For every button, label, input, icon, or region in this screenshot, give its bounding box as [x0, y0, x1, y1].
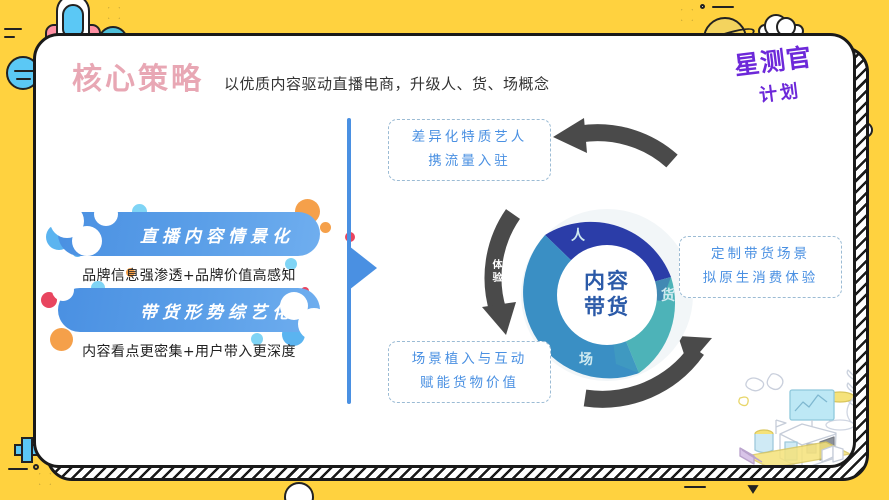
strategy-pill-2[interactable]: 带货形势综艺化	[58, 288, 320, 332]
callout-right[interactable]: 定制带货场景 拟原生消费体验	[679, 236, 842, 298]
donut-center-line-2: 带货	[584, 295, 630, 321]
donut-segment-label-ren: 人	[571, 225, 585, 245]
dot-deco	[700, 4, 705, 9]
dash-deco	[712, 6, 734, 8]
callout-top-line-2: 携流量入驻	[428, 150, 511, 174]
callout-bottom-line-1: 场景植入与互动	[412, 348, 528, 372]
strategy-item-1[interactable]: 直播内容情景化 品牌信息强渗透+品牌价值高感知	[58, 212, 339, 285]
donut-center-line-1: 内容	[584, 269, 630, 295]
header-title: 核心策略	[72, 54, 204, 98]
callout-bottom[interactable]: 场景植入与互动 赋能货物价值	[388, 341, 551, 403]
callout-bottom-line-2: 赋能货物价值	[420, 372, 519, 396]
divider-arrow-icon	[349, 246, 377, 290]
planet-icon	[284, 482, 314, 500]
triangle-deco	[747, 485, 758, 494]
arc-label-left: 体验	[488, 259, 503, 285]
donut-segment-label-chang: 场	[579, 349, 593, 369]
arc-label-top: 定制	[643, 174, 671, 200]
callout-right-line-1: 定制带货场景	[711, 243, 810, 267]
strategy-label-1: 直播内容情景化	[84, 222, 294, 247]
strategy-item-2[interactable]: 带货形势综艺化 内容看点更密集+用户带入更深度	[58, 288, 339, 361]
dash-deco	[4, 28, 22, 30]
strategy-sub-1: 品牌信息强渗透+品牌价值高感知	[39, 265, 339, 285]
callout-top[interactable]: 差异化特质艺人 携流量入驻	[388, 119, 551, 181]
header-subtitle: 以优质内容驱动直播电商，升级人、货、场概念	[224, 73, 550, 94]
main-card: 核心策略 以优质内容驱动直播电商，升级人、货、场概念 星测官 计划 直播内容情景…	[33, 33, 856, 468]
strategy-pill-1[interactable]: 直播内容情景化	[58, 212, 320, 256]
page-title: 核心策略 以优质内容驱动直播电商，升级人、货、场概念	[72, 54, 550, 98]
slide-canvas: 核心策略 以优质内容驱动直播电商，升级人、货、场概念 星测官 计划 直播内容情景…	[0, 0, 889, 500]
dash-deco	[684, 486, 706, 488]
factory-illustration-icon	[736, 364, 856, 468]
dash-deco	[8, 468, 28, 470]
dot-deco	[33, 464, 39, 470]
brand-logo: 星测官 计划	[713, 42, 833, 116]
callout-right-line-2: 拟原生消费体验	[703, 267, 819, 291]
dash-deco	[4, 36, 15, 38]
strategy-sub-2: 内容看点更密集+用户带入更深度	[39, 341, 339, 361]
arc-label-right: 融合	[631, 400, 659, 422]
donut-center: 内容 带货	[557, 245, 657, 345]
callout-top-line-1: 差异化特质艺人	[412, 126, 528, 150]
strategy-label-2: 带货形势综艺化	[84, 298, 294, 323]
donut-segment-label-huo: 货	[661, 285, 675, 305]
